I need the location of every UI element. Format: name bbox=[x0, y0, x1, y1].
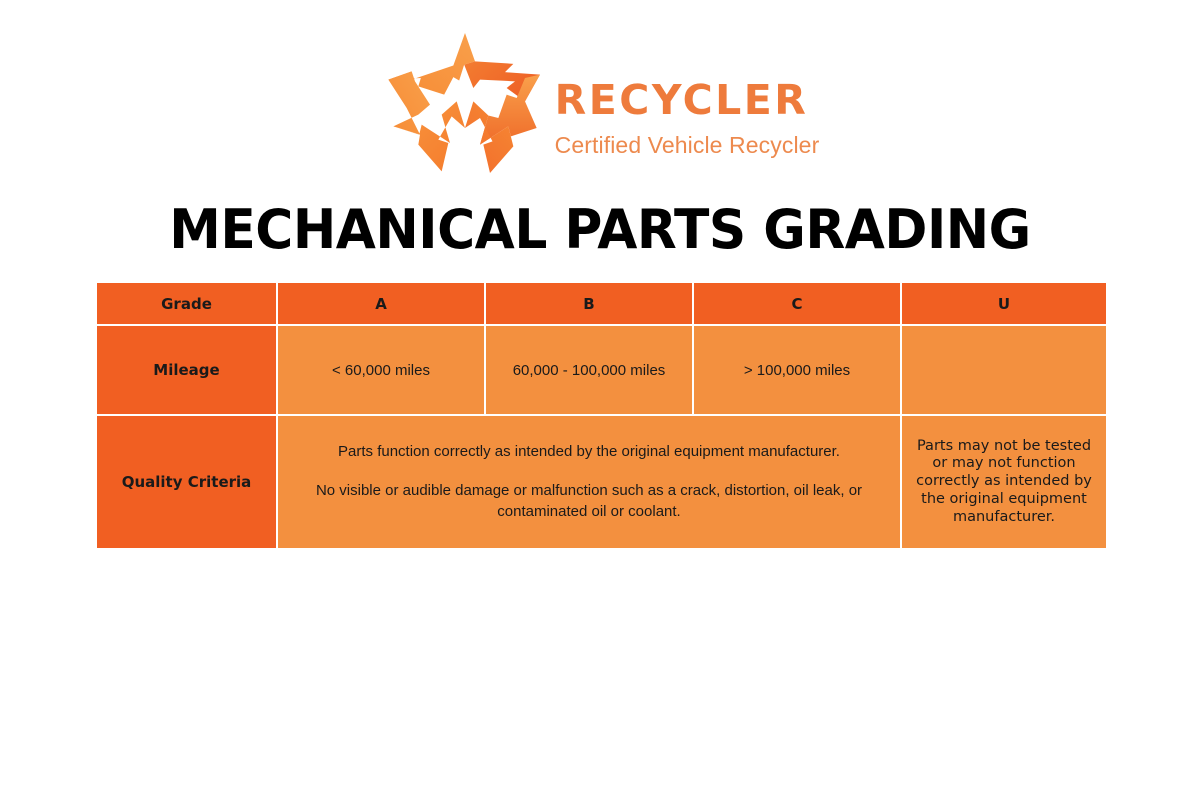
mileage-grade-a: < 60,000 miles bbox=[278, 326, 484, 414]
mileage-grade-c: > 100,000 miles bbox=[694, 326, 900, 414]
row-label-quality-criteria: Quality Criteria bbox=[97, 416, 276, 548]
table-header-row: Grade A B C U bbox=[97, 283, 1106, 324]
header-cell-a: A bbox=[278, 283, 484, 324]
brand-tagline: Certified Vehicle Recycler bbox=[555, 134, 820, 157]
mileage-grade-b: 60,000 - 100,000 miles bbox=[486, 326, 692, 414]
row-label-mileage: Mileage bbox=[97, 326, 276, 414]
page-title: MECHANICAL PARTS GRADING bbox=[24, 198, 1176, 261]
logo-inner: RECYCLER Certified Vehicle Recycler bbox=[381, 28, 820, 178]
quality-criteria-text: Parts function correctly as intended by … bbox=[278, 441, 900, 523]
brand-logo: RECYCLER Certified Vehicle Recycler bbox=[0, 28, 1200, 178]
header-cell-grade: Grade bbox=[97, 283, 276, 324]
quality-criteria-paragraph-1: Parts function correctly as intended by … bbox=[300, 441, 878, 463]
quality-criteria-grades-abc: Parts function correctly as intended by … bbox=[278, 416, 900, 548]
table-row-quality-criteria: Quality Criteria Parts function correctl… bbox=[97, 416, 1106, 548]
mileage-grade-u bbox=[902, 326, 1106, 414]
header-cell-c: C bbox=[694, 283, 900, 324]
quality-criteria-grade-u: Parts may not be tested or may not funct… bbox=[902, 416, 1106, 548]
quality-criteria-u-text: Parts may not be tested or may not funct… bbox=[902, 438, 1106, 526]
brand-name: RECYCLER bbox=[555, 80, 820, 121]
mechanical-parts-grading-table: Grade A B C U Mileage < 60,000 miles 60,… bbox=[95, 281, 1108, 550]
recycling-star-icon bbox=[381, 28, 549, 178]
header-cell-b: B bbox=[486, 283, 692, 324]
table-row-mileage: Mileage < 60,000 miles 60,000 - 100,000 … bbox=[97, 326, 1106, 414]
quality-criteria-paragraph-2: No visible or audible damage or malfunct… bbox=[300, 480, 878, 524]
brand-wordmark: RECYCLER Certified Vehicle Recycler bbox=[555, 50, 820, 157]
header-cell-u: U bbox=[902, 283, 1106, 324]
